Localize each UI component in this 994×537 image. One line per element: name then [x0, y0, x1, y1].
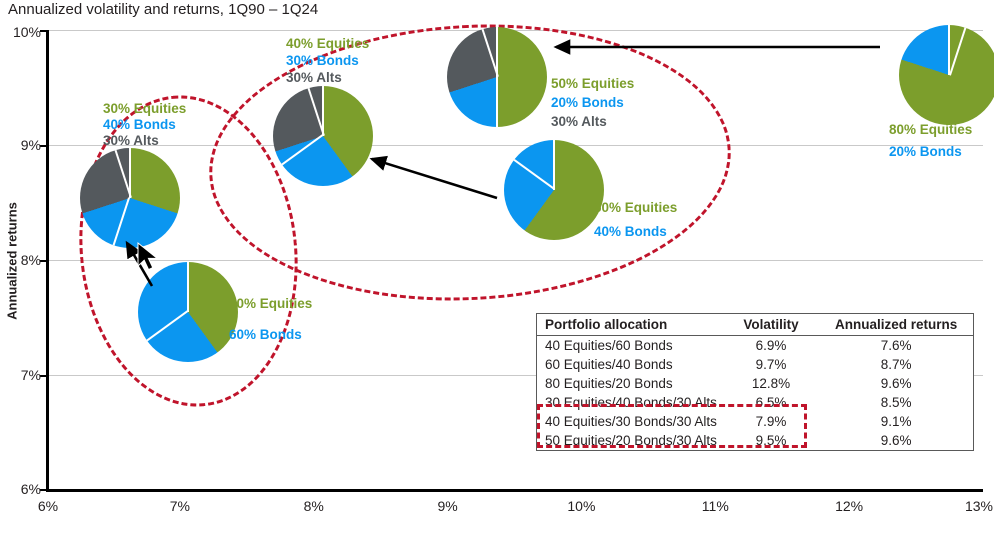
cell-returns: 9.6%: [817, 374, 973, 393]
table-header-allocation: Portfolio allocation: [537, 314, 723, 336]
pie-separator: [514, 159, 556, 190]
x-tick-label-8pct: 8%: [304, 492, 324, 514]
x-tick-label-11pct: 11%: [702, 492, 729, 514]
y-tick-label-10pct: 10%: [13, 24, 41, 40]
pie-80-equities-20-bonds[interactable]: [899, 25, 994, 125]
table-row: 40 Equities/60 Bonds 6.9% 7.6%: [537, 336, 973, 356]
pie-30-equities-40-bonds-30-alts[interactable]: [80, 148, 180, 248]
chart-canvas: Annualized volatility and returns, 1Q90 …: [0, 0, 994, 537]
pie-label-20-bonds: 20% Bonds: [551, 95, 624, 111]
table-header-row: Portfolio allocation Volatility Annualiz…: [537, 314, 973, 336]
table-row: 30 Equities/40 Bonds/30 Alts 6.5% 8.5%: [537, 393, 973, 412]
table-row: 80 Equities/20 Bonds 12.8% 9.6%: [537, 374, 973, 393]
cell-allocation: 40 Equities/30 Bonds/30 Alts: [537, 412, 723, 431]
pie-separator: [948, 25, 950, 75]
x-tick-label-10pct: 10%: [567, 492, 595, 514]
pie-separator: [113, 197, 130, 245]
pie-label-80-equities: 80% Equities: [889, 122, 972, 138]
cell-allocation: 80 Equities/20 Bonds: [537, 374, 723, 393]
cell-returns: 7.6%: [817, 336, 973, 356]
pie-label-30-alts-c: 30% Alts: [551, 114, 607, 130]
cell-allocation: 40 Equities/60 Bonds: [537, 336, 723, 356]
cell-returns: 9.1%: [817, 412, 973, 431]
pie-40-equities-60-bonds[interactable]: [138, 262, 238, 362]
y-axis-line: [46, 30, 49, 492]
x-tick-label-6pct: 6%: [38, 492, 58, 514]
portfolio-allocation-table: Portfolio allocation Volatility Annualiz…: [536, 313, 974, 451]
pie-label-40-equities-alts: 40% Equities: [286, 36, 369, 52]
y-tick-label-7pct: 7%: [21, 367, 41, 383]
cell-volatility: 6.5%: [723, 393, 817, 412]
cell-volatility: 9.7%: [723, 355, 817, 374]
pie-label-40-equities: 40% Equities: [229, 296, 312, 312]
table-row: 60 Equities/40 Bonds 9.7% 8.7%: [537, 355, 973, 374]
table-header-returns: Annualized returns: [817, 314, 973, 336]
y-tick-label-9pct: 9%: [21, 137, 41, 153]
cell-returns: 8.7%: [817, 355, 973, 374]
pie-separator: [496, 77, 498, 127]
pie-40-equities-30-bonds-30-alts[interactable]: [273, 86, 373, 186]
cell-returns: 9.6%: [817, 431, 973, 450]
cell-returns: 8.5%: [817, 393, 973, 412]
pie-label-60-equities: 60% Equities: [594, 200, 677, 216]
chart-title: Annualized volatility and returns, 1Q90 …: [8, 1, 318, 18]
cell-allocation: 50 Equities/20 Bonds/30 Alts: [537, 431, 723, 450]
cell-volatility: 12.8%: [723, 374, 817, 393]
pie-label-30-bonds: 30% Bonds: [286, 53, 359, 69]
x-tick-label-12pct: 12%: [835, 492, 863, 514]
pie-60-equities-40-bonds[interactable]: [504, 140, 604, 240]
pie-separator: [146, 310, 188, 341]
cell-allocation: 30 Equities/40 Bonds/30 Alts: [537, 393, 723, 412]
table-header-volatility: Volatility: [723, 314, 817, 336]
table-row: 50 Equities/20 Bonds/30 Alts 9.5% 9.6%: [537, 431, 973, 450]
pie-separator: [949, 27, 966, 75]
pie-label-40-bonds-b: 40% Bonds: [594, 224, 667, 240]
y-axis-title: Annualized returns: [5, 202, 20, 320]
cell-volatility: 6.9%: [723, 336, 817, 356]
pie-label-30-alts-b: 30% Alts: [286, 70, 342, 86]
cell-volatility: 9.5%: [723, 431, 817, 450]
x-tick-label-9pct: 9%: [437, 492, 457, 514]
pie-label-20-bonds-b: 20% Bonds: [889, 144, 962, 160]
cell-allocation: 60 Equities/40 Bonds: [537, 355, 723, 374]
pie-separator: [187, 262, 189, 312]
x-tick-label-7pct: 7%: [170, 492, 190, 514]
pie-label-60-bonds: 60% Bonds: [229, 327, 302, 343]
pie-separator: [553, 140, 555, 190]
y-tick-label-8pct: 8%: [21, 252, 41, 268]
pie-label-30-equities: 30% Equities: [103, 101, 186, 117]
cell-volatility: 7.9%: [723, 412, 817, 431]
pie-label-30-alts: 30% Alts: [103, 133, 159, 149]
table-row: 40 Equities/30 Bonds/30 Alts 7.9% 9.1%: [537, 412, 973, 431]
pie-separator: [281, 134, 323, 165]
pie-50-equities-20-bonds-30-alts[interactable]: [447, 27, 547, 127]
x-tick-label-13pct: 13%: [965, 492, 993, 514]
pie-label-50-equities: 50% Equities: [551, 76, 634, 92]
pie-label-40-bonds: 40% Bonds: [103, 117, 176, 133]
